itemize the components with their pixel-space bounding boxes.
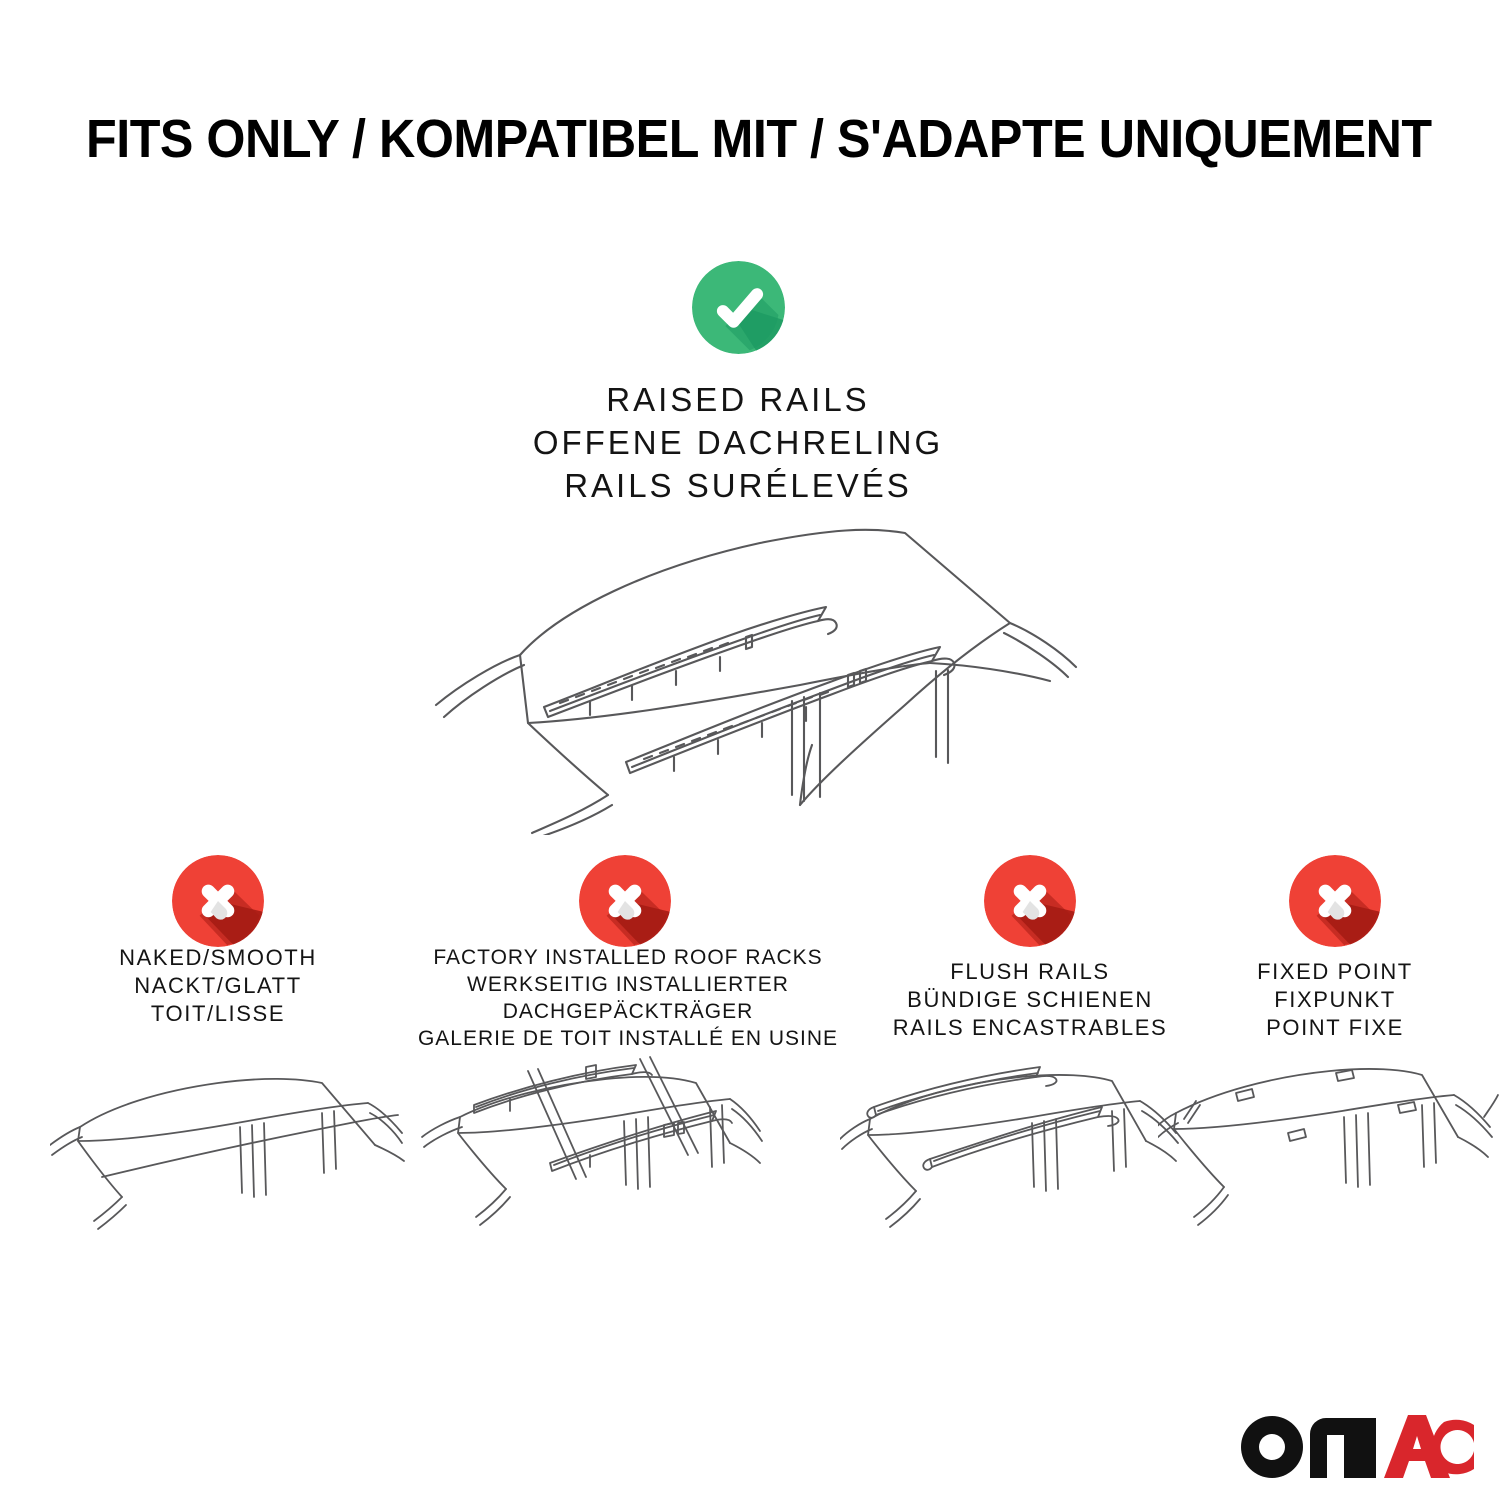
compatible-caption-line-en: RAISED RAILS [438,378,1038,421]
caption-line: NACKT/GLATT [48,972,388,1000]
page-title: FITS ONLY / KOMPATIBEL MIT / S'ADAPTE UN… [86,108,1332,170]
car-roof-factory-racks-illustration [400,1055,765,1285]
caption-line: FACTORY INSTALLED ROOF RACKS [408,944,848,971]
cross-circle-icon [579,855,671,947]
car-roof-flush-rails-illustration [840,1055,1205,1285]
caption-line: WERKSEITIG INSTALLIERTER [408,971,848,998]
caption-line: BÜNDIGE SCHIENEN [860,986,1200,1014]
caption-line: POINT FIXE [1175,1014,1495,1042]
cross-circle-icon [172,855,264,947]
compatible-caption-line-de: OFFENE DACHRELING [438,421,1038,464]
caption-line: TOIT/LISSE [48,1000,388,1028]
caption-line: DACHGEPÄCKTRÄGER [408,998,848,1025]
omac-logo [1238,1412,1474,1478]
check-circle-icon [692,261,785,354]
caption-line: FIXED POINT [1175,958,1495,986]
caption-line: GALERIE DE TOIT INSTALLÉ EN USINE [408,1025,848,1052]
cross-circle-icon [1289,855,1381,947]
fitment-guide-page: FITS ONLY / KOMPATIBEL MIT / S'ADAPTE UN… [0,0,1500,1500]
car-roof-raised-rails-illustration [400,505,1100,835]
compatible-caption-line-fr: RAILS SURÉLEVÉS [438,464,1038,507]
compatible-caption: RAISED RAILS OFFENE DACHRELING RAILS SUR… [438,378,1038,507]
car-roof-fixed-point-illustration [1158,1055,1500,1285]
incompatible-caption-factory-racks: FACTORY INSTALLED ROOF RACKS WERKSEITIG … [408,944,848,1052]
caption-line: NAKED/SMOOTH [48,944,388,972]
caption-line: FIXPUNKT [1175,986,1495,1014]
caption-line: FLUSH RAILS [860,958,1200,986]
incompatible-caption-fixed-point: FIXED POINT FIXPUNKT POINT FIXE [1175,958,1495,1042]
car-roof-naked-smooth-illustration [50,1055,410,1285]
caption-line: RAILS ENCASTRABLES [860,1014,1200,1042]
incompatible-caption-naked-smooth: NAKED/SMOOTH NACKT/GLATT TOIT/LISSE [48,944,388,1028]
incompatible-caption-flush-rails: FLUSH RAILS BÜNDIGE SCHIENEN RAILS ENCAS… [860,958,1200,1042]
cross-circle-icon [984,855,1076,947]
